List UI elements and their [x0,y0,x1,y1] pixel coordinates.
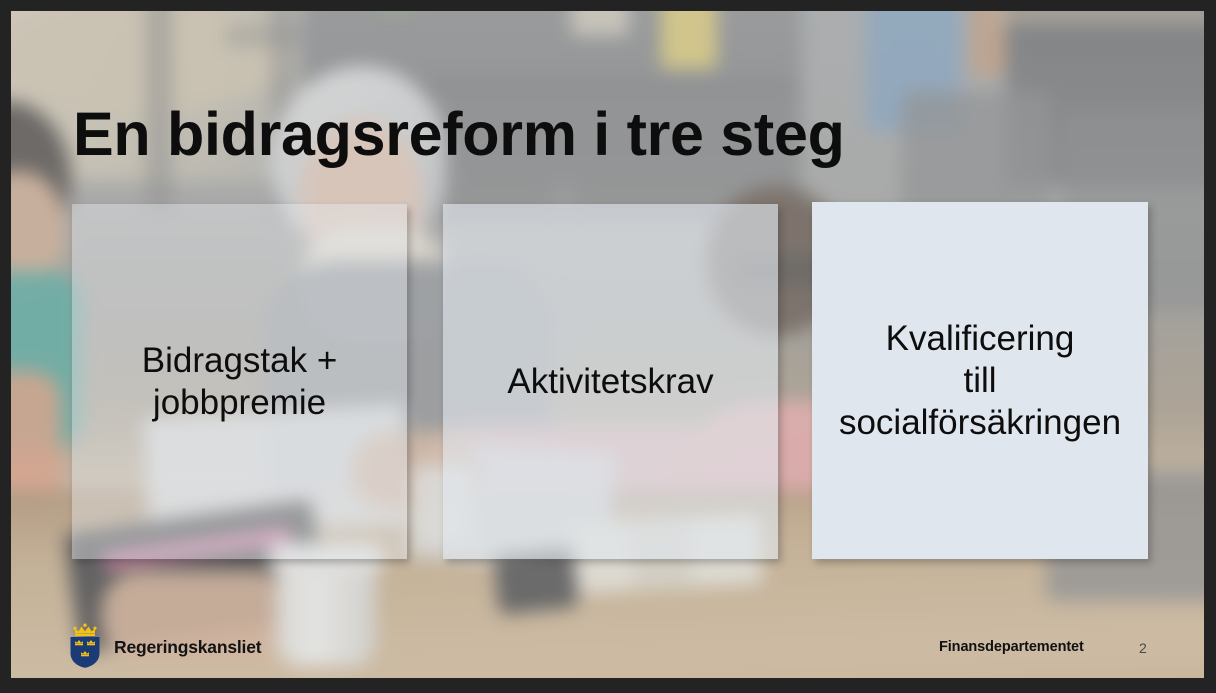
slide-frame: En bidragsreform i tre steg Bidragstak +… [0,0,1216,693]
page-number: 2 [1139,640,1147,656]
step-box-1-label: Bidragstak + jobbpremie [142,340,338,424]
page-title: En bidragsreform i tre steg [73,102,1073,167]
step-box-bidragstak-jobbpremie[interactable]: Bidragstak + jobbpremie [72,204,407,559]
regeringskansliet-logo: Regeringskansliet [65,622,261,673]
bg-plant [376,11,416,13]
presentation-slide: En bidragsreform i tre steg Bidragstak +… [11,11,1204,678]
logo-wordmark: Regeringskansliet [114,637,261,658]
step-box-2-label: Aktivitetskrav [507,361,713,403]
step-box-3-label: Kvalificering till socialförsäkringen [839,318,1121,444]
bg-ledge [991,11,1204,23]
step-box-aktivitetskrav[interactable]: Aktivitetskrav [443,204,778,559]
bg-object-white [571,11,629,36]
step-box-kvalificering[interactable]: Kvalificering till socialförsäkringen [812,202,1148,559]
footer-department-label: Finansdepartementet [939,639,1084,655]
bg-yellow-cup [661,11,717,69]
swedish-three-crowns-coat-of-arms-icon [65,622,105,673]
